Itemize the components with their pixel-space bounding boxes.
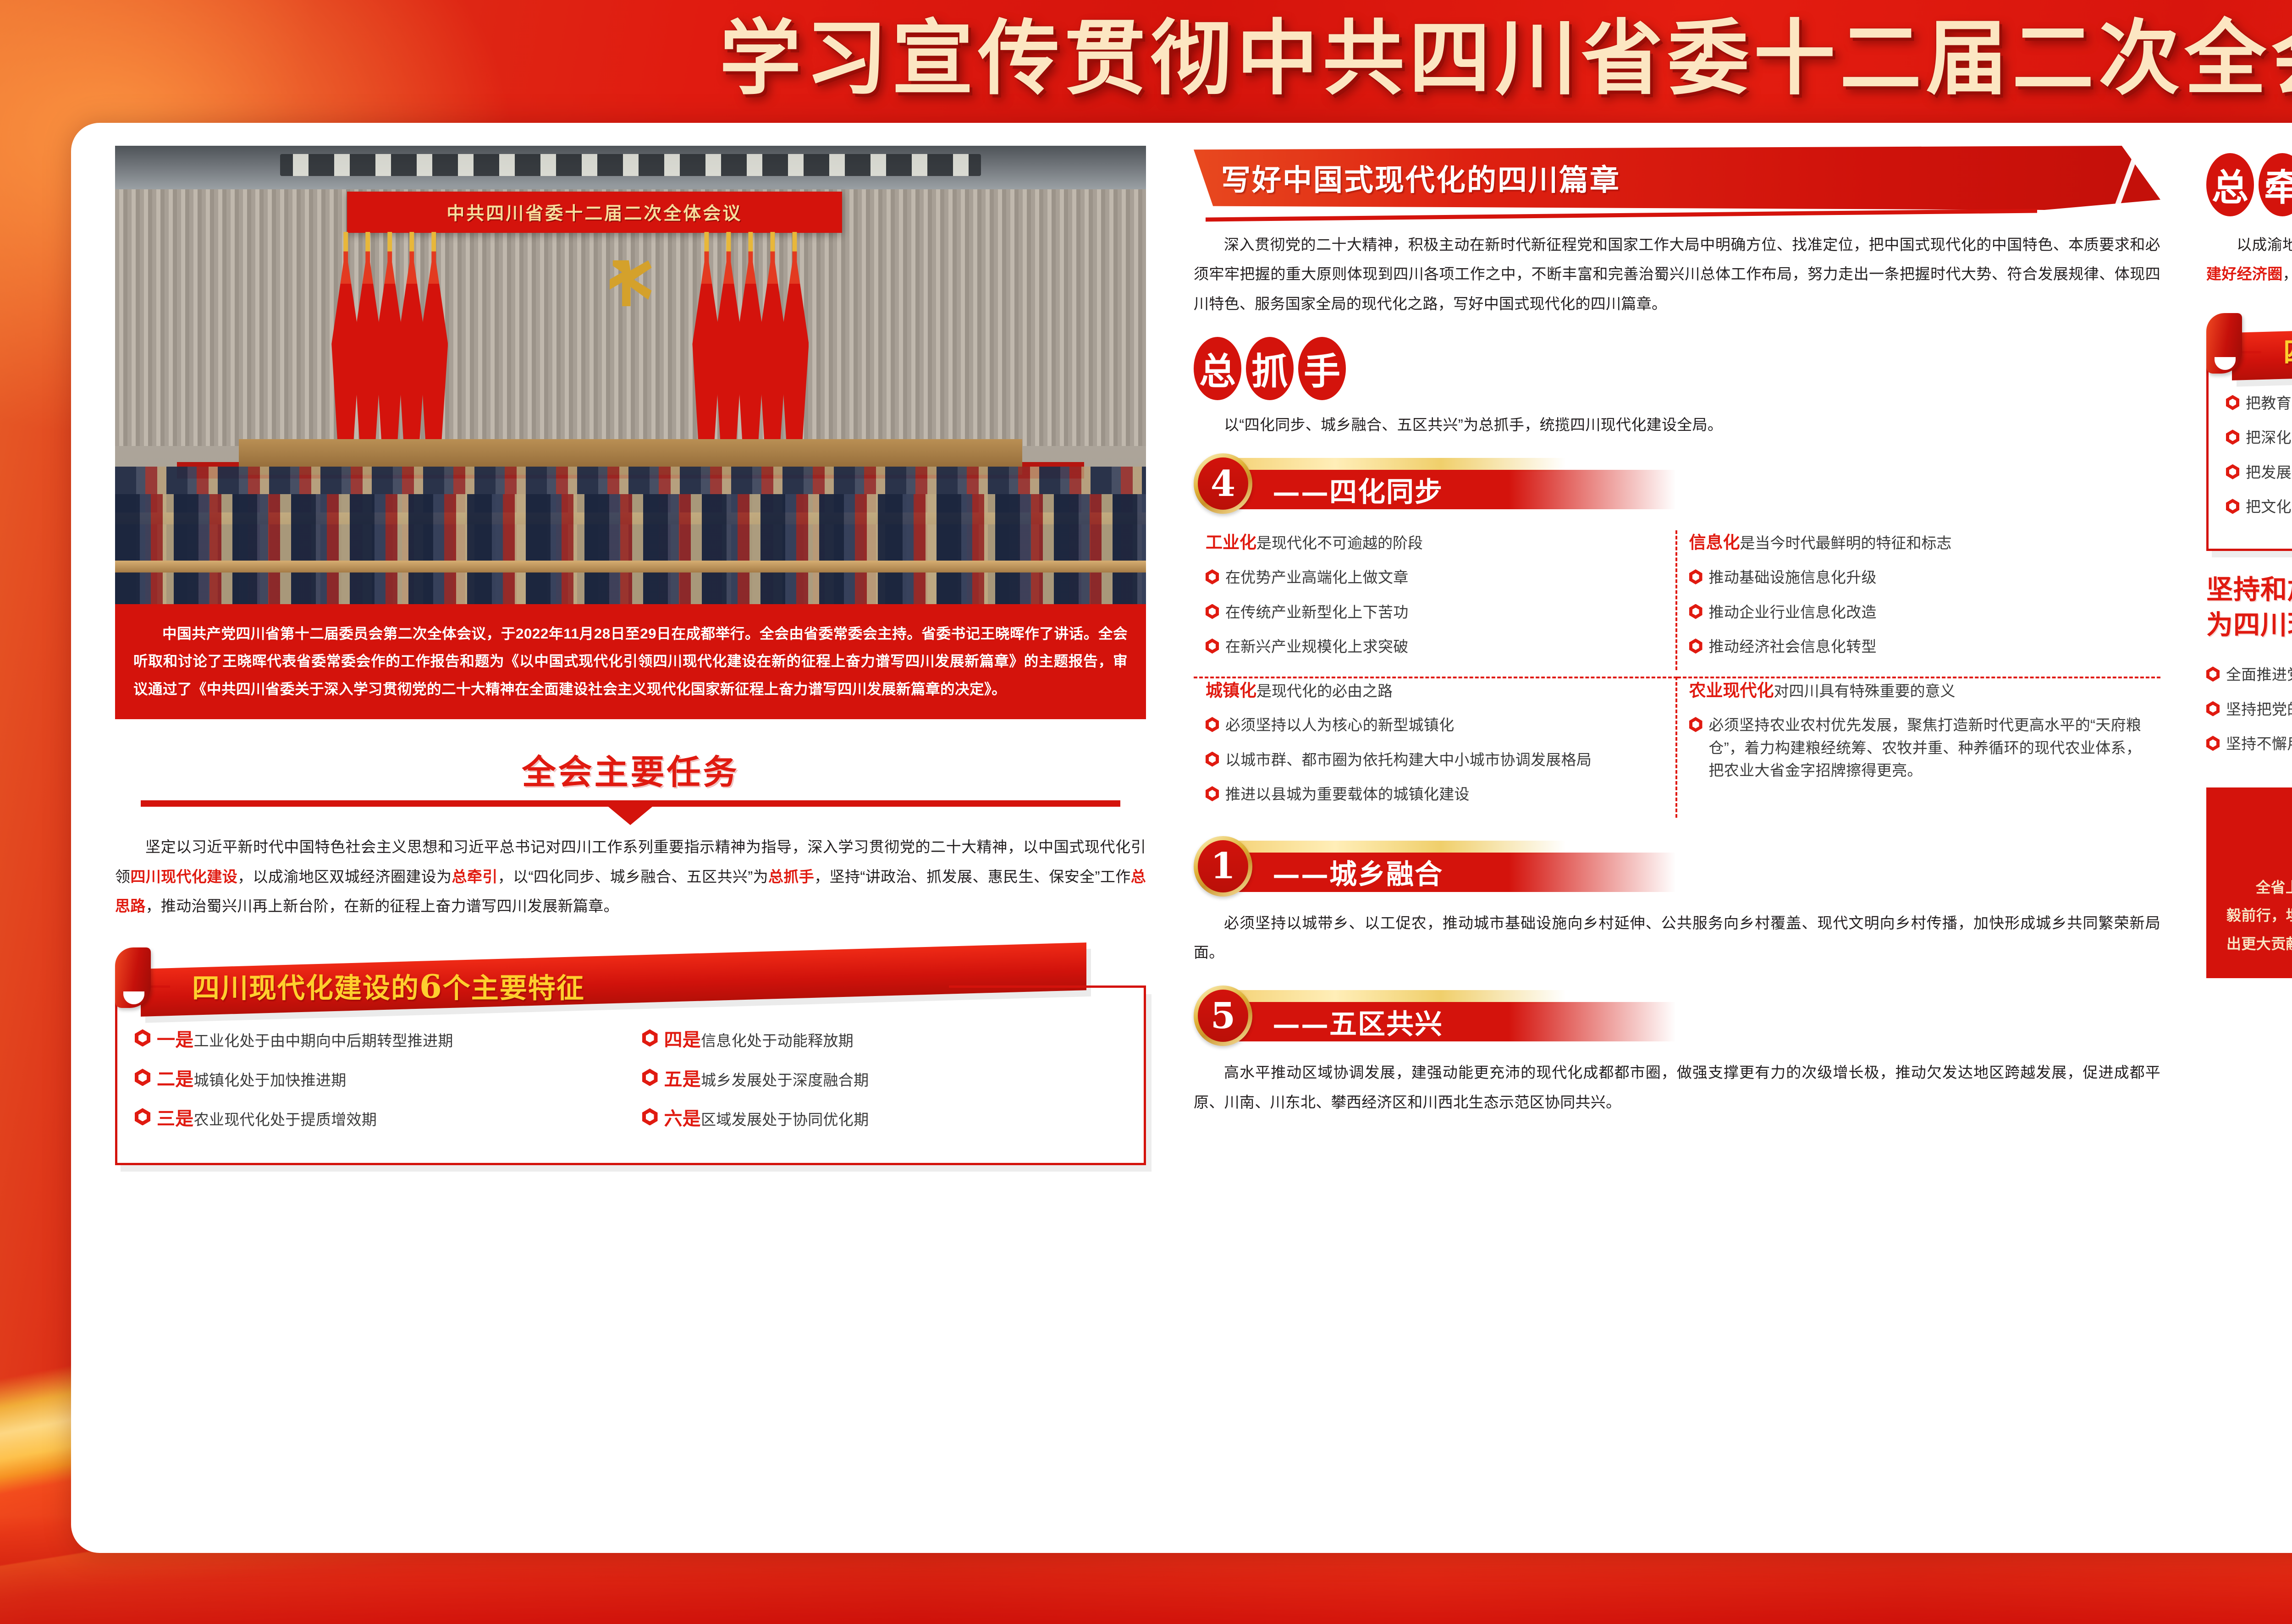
feature-ordinal: 五是 <box>664 1069 701 1090</box>
photo-caption-text: 中国共产党四川省第十二届委员会第二次全体会议，于2022年11月28日至29日在… <box>133 620 1128 703</box>
feature-text: 六是区域发展处于协同优化期 <box>664 1105 869 1133</box>
conference-photo: 中共四川省委十二届二次全体会议 <box>115 146 1146 604</box>
features-col-2: 四是信息化处于动能释放期 五是城乡发展处于深度融合期 六是区域发展处于协同优化期 <box>642 1026 1127 1145</box>
quad-key: 城镇化 <box>1206 681 1256 700</box>
photo-caption-block: 中国共产党四川省第十二届委员会第二次全体会议，于2022年11月28日至29日在… <box>115 604 1146 719</box>
quad-item: 在优势产业高端化上做文章 <box>1225 566 1409 589</box>
hexagon-bullet-icon <box>1206 639 1219 654</box>
quad-rest: 是现代化不可逾越的阶段 <box>1256 534 1423 551</box>
poster-title-area: 学习宣传贯彻中共四川省委十二届二次全会精神 <box>0 16 2292 101</box>
left-column: 中共四川省委十二届二次全体会议 中国共产党四川省第十二届委员会第二次全体会议，于… <box>91 140 1175 1539</box>
hexagon-bullet-icon <box>642 1108 658 1125</box>
hexagon-bullet-icon <box>1206 569 1219 584</box>
features-list: 一是工业化处于由中期向中后期转型推进期 二是城镇化处于加快推进期 三是农业现代化… <box>135 1026 1126 1145</box>
quad-item: 在新兴产业规模化上求突破 <box>1225 635 1409 658</box>
chengxiang-paragraph: 必须坚持以城带乡、以工促农，推动城市基础设施向乡村延伸、公共服务向乡村覆盖、现代… <box>1194 908 2160 968</box>
list-item: 在优势产业高端化上做文章 <box>1206 566 1664 589</box>
qy-p1: 以成渝地区双城经济圈建设作为四川现代化建设的总牵引， <box>2237 236 2292 253</box>
chapter-intro-paragraph: 深入贯彻党的二十大精神，积极主动在新时代新征程党和国家工作大局中明确方位、找准定… <box>1194 230 2160 319</box>
hexagon-bullet-icon <box>1206 717 1219 732</box>
list-item: 必须坚持以人为核心的新型城镇化 <box>1206 714 1664 737</box>
feature-label: 区域发展处于协同优化期 <box>701 1111 869 1128</box>
task-h2: 总牵引 <box>452 868 498 885</box>
quad-heading: 农业现代化对四川具有特殊重要的意义 <box>1689 678 2149 703</box>
quadrant-agricultural-modernization: 农业现代化对四川具有特殊重要的意义 必须坚持农业农村优先发展，聚焦打造新时代更高… <box>1677 677 2161 818</box>
list-item: 五是城乡发展处于深度融合期 <box>642 1066 1127 1093</box>
quad-key: 工业化 <box>1206 533 1256 552</box>
hexagon-bullet-icon <box>1206 786 1219 801</box>
list-item: 在传统产业新型化上下苦功 <box>1206 601 1664 624</box>
main-tasks-title-block: 全会主要任务 <box>115 745 1146 807</box>
quad-item: 推动企业行业信息化改造 <box>1709 601 1877 624</box>
party-item: 全面推进党的自我净化、自我完善、自我革新、自我提高 <box>2226 663 2292 686</box>
list-item: 推动基础设施信息化升级 <box>1689 566 2149 589</box>
party-heading-line-1: 坚持和加强党的全面领导 <box>2206 572 2292 608</box>
task-item: 把文化自信自强作为持久精神力量 <box>2246 495 2292 518</box>
scroll-curl-icon <box>2206 313 2242 374</box>
band-sihua-tongbu: 4 ——四化同步 <box>1194 453 2160 514</box>
features-col-1: 一是工业化处于由中期向中后期转型推进期 二是城镇化处于加快推进期 三是农业现代化… <box>135 1026 619 1145</box>
task-p2: ，以成渝地区双城经济圈建设为 <box>237 868 452 885</box>
list-item: 推动经济社会信息化转型 <box>1689 635 2149 658</box>
poster-title: 学习宣传贯彻中共四川省委十二届二次全会精神 <box>0 16 2292 101</box>
party-heading-line-2: 为四川现代化建设提供坚强保证 <box>2206 607 2292 643</box>
list-item: 把教育科技人才作为战略先导 <box>2226 392 2292 415</box>
quad-item: 推动基础设施信息化升级 <box>1709 566 1877 589</box>
quadrant-urbanization: 城镇化是现代化的必由之路 必须坚持以人为核心的新型城镇化 以城市群、都市圈为依托… <box>1194 677 1677 818</box>
hexagon-bullet-icon <box>135 1108 150 1125</box>
feature-ordinal: 六是 <box>664 1109 701 1129</box>
scroll-curl-icon <box>115 947 151 1008</box>
quadrant-industrialization: 工业化是现代化不可逾越的阶段 在优势产业高端化上做文章 在传统产业新型化上下苦功… <box>1194 530 1677 670</box>
wuqu-paragraph: 高水平推动区域协调发展，建强动能更充沛的现代化成都都市圈，做强支撑更有力的次级增… <box>1194 1058 2160 1117</box>
quad-item: 以城市群、都市圈为依托构建大中小城市协调发展格局 <box>1225 749 1592 771</box>
quad-heading: 工业化是现代化不可逾越的阶段 <box>1206 530 1664 555</box>
feature-label: 农业现代化处于提质增效期 <box>194 1111 377 1128</box>
photo-flags-right <box>692 232 798 447</box>
feature-text: 二是城镇化处于加快推进期 <box>157 1066 347 1093</box>
photo-ceiling <box>115 146 1146 189</box>
hexagon-bullet-icon <box>2206 701 2220 716</box>
quad-item: 在传统产业新型化上下苦功 <box>1225 601 1409 624</box>
band-label: ——城乡融合 <box>1273 852 1443 892</box>
quad-rest: 是当今时代最鲜明的特征和标志 <box>1740 534 1952 551</box>
photo-audience-rows-2 <box>115 494 1146 604</box>
hexagon-bullet-icon <box>642 1029 658 1046</box>
tasks-box: 把教育科技人才作为战略先导 把深化改革扩大开放作为根本动力 把发展全过程人民民主… <box>2206 353 2292 551</box>
band-wuqu-gongxing: 5 ——五区共兴 <box>1194 985 2160 1046</box>
list-item: 把文化自信自强作为持久精神力量 <box>2226 495 2292 518</box>
list-item: 六是区域发展处于协同优化期 <box>642 1105 1127 1133</box>
list-item: 把深化改革扩大开放作为根本动力 <box>2226 426 2292 449</box>
party-measures-list: 全面推进党的自我净化、自我完善、自我革新、自我提高 坚持把党的政治建设摆在首位 … <box>2206 663 2292 767</box>
task-p4: ，坚持“讲政治、抓发展、惠民生、保安全”工作 <box>814 868 1130 885</box>
list-item: 在新兴产业规模化上求突破 <box>1206 635 1664 658</box>
zongqianyin-paragraph: 以成渝地区双城经济圈建设作为四川现代化建设的总牵引，加强与重庆方面全方位协作，在… <box>2206 230 2292 289</box>
task-h1: 四川现代化建设 <box>130 868 237 885</box>
chapter-header-underline <box>1206 209 2037 222</box>
main-tasks-paragraph: 坚定以习近平新时代中国特色社会主义思想和习近平总书记对四川工作系列重要指示精神为… <box>115 832 1146 921</box>
list-item: 四是信息化处于动能释放期 <box>642 1026 1127 1054</box>
photo-flags-left <box>331 232 437 447</box>
feature-text: 三是农业现代化处于提质增效期 <box>157 1105 377 1133</box>
band-number-badge: 5 <box>1194 985 1252 1046</box>
party-leadership-heading: 坚持和加强党的全面领导 为四川现代化建设提供坚强保证 <box>2206 572 2292 643</box>
chapter-header: 写好中国式现代化的四川篇章 <box>1194 146 2160 210</box>
quad-item: 推进以县城为重要载体的城镇化建设 <box>1225 783 1470 806</box>
chapter-header-text: 写好中国式现代化的四川篇章 <box>1221 157 1620 199</box>
band-red-strip: ——城乡融合 <box>1236 853 1676 892</box>
band-number-badge: 4 <box>1194 453 1252 514</box>
band-number-badge: 1 <box>1194 836 1252 897</box>
list-item: 推动企业行业信息化改造 <box>1689 601 2149 624</box>
zongqianyin-badge: 总 牵 引 <box>2206 153 2292 216</box>
zongzhuashou-paragraph: 以“四化同步、城乡融合、五区共兴”为总抓手，统揽四川现代化建设全局。 <box>1194 410 2160 440</box>
list-item: 三是农业现代化处于提质增效期 <box>135 1105 619 1133</box>
task-p5: ，推动治蜀兴川再上新台阶，在新的征程上奋力谱写四川发展新篇章。 <box>146 897 619 914</box>
hexagon-bullet-icon <box>642 1068 658 1086</box>
feature-text: 五是城乡发展处于深度融合期 <box>664 1066 869 1093</box>
quad-rest: 对四川具有特殊重要的意义 <box>1774 683 1956 699</box>
features-box: 一是工业化处于由中期向中后期转型推进期 二是城镇化处于加快推进期 三是农业现代化… <box>115 988 1146 1165</box>
hexagon-bullet-icon <box>1689 639 1702 654</box>
party-item: 坚持不懈用习近平新时代中国特色社会主义思想凝心铸魂 <box>2226 732 2292 755</box>
quad-heading: 城镇化是现代化的必由之路 <box>1206 678 1664 703</box>
hexagon-bullet-icon <box>2226 429 2239 445</box>
feature-label: 工业化处于由中期向中后期转型推进期 <box>194 1032 453 1049</box>
hexagon-bullet-icon <box>1206 604 1219 619</box>
middle-column: 写好中国式现代化的四川篇章 深入贯彻党的二十大精神，积极主动在新时代新征程党和国… <box>1175 140 2186 1539</box>
feature-text: 一是工业化处于由中期向中后期转型推进期 <box>157 1026 453 1054</box>
sihua-quadrant-grid: 工业化是现代化不可逾越的阶段 在优势产业高端化上做文章 在传统产业新型化上下苦功… <box>1194 530 2160 817</box>
hexagon-bullet-icon <box>1689 604 1702 619</box>
list-item: 推进以县城为重要载体的城镇化建设 <box>1206 783 1664 806</box>
band-label: ——四化同步 <box>1273 470 1443 510</box>
quad-item: 推动经济社会信息化转型 <box>1709 635 1877 658</box>
feature-ordinal: 二是 <box>157 1069 194 1090</box>
qy-p2: ，合力打造带动全国高质量发展的重要增长极和新的动力源。 <box>2283 265 2292 282</box>
zongzhuashou-badge: 总 抓 手 <box>1194 337 2160 400</box>
task-p3: ，以“四化同步、城乡融合、五区共兴”为 <box>498 868 768 885</box>
feature-ordinal: 三是 <box>157 1109 194 1129</box>
list-item: 以城市群、都市圈为依托构建大中小城市协调发展格局 <box>1206 749 1664 771</box>
feature-label: 城乡发展处于深度融合期 <box>701 1072 869 1089</box>
right-column: 总 牵 引 以成渝地区双城经济圈建设作为四川现代化建设的总牵引，加强与重庆方面全… <box>2186 140 2292 1539</box>
title-rule-divider <box>141 800 1120 807</box>
call-to-action-card: 全会号召 全省上下要更加紧密地团结在以习近平同志为核心的党中央周围，全面贯彻落实… <box>2206 787 2292 978</box>
content-panel: 中共四川省委十二届二次全体会议 中国共产党四川省第十二届委员会第二次全体会议，于… <box>71 123 2292 1553</box>
list-item: 坚持不懈用习近平新时代中国特色社会主义思想凝心铸魂 <box>2206 732 2292 755</box>
list-item: 全面推进党的自我净化、自我完善、自我革新、自我提高 <box>2206 663 2292 686</box>
quad-key: 信息化 <box>1689 533 1740 552</box>
band-label: ——五区共兴 <box>1273 1002 1443 1042</box>
hexagon-bullet-icon <box>1689 717 1702 732</box>
oval-char: 总 <box>1194 337 1241 400</box>
quad-item: 必须坚持以人为核心的新型城镇化 <box>1225 714 1455 737</box>
photo-banner-text: 中共四川省委十二届二次全体会议 <box>446 199 742 225</box>
list-item: 二是城镇化处于加快推进期 <box>135 1066 619 1093</box>
band-red-strip: ——四化同步 <box>1236 470 1676 509</box>
hexagon-bullet-icon <box>1206 752 1219 767</box>
task-item: 把发展全过程人民民主作为重要保障 <box>2246 461 2292 484</box>
quad-item: 必须坚持农业农村优先发展，聚焦打造新时代更高水平的“天府粮仓”，着力构建粮经统筹… <box>1709 714 2149 782</box>
hexagon-bullet-icon <box>2206 736 2220 751</box>
feature-label: 信息化处于动能释放期 <box>701 1032 854 1049</box>
party-col-1: 全面推进党的自我净化、自我完善、自我革新、自我提高 坚持把党的政治建设摆在首位 … <box>2206 663 2292 767</box>
photo-banner: 中共四川省委十二届二次全体会议 <box>347 192 842 233</box>
feature-text: 四是信息化处于动能释放期 <box>664 1026 854 1054</box>
hexagon-bullet-icon <box>2226 464 2239 479</box>
quad-rest: 是现代化的必由之路 <box>1256 683 1393 699</box>
feature-label: 城镇化处于加快推进期 <box>194 1072 347 1089</box>
quad-key: 农业现代化 <box>1689 681 1774 700</box>
hexagon-bullet-icon <box>2206 666 2220 682</box>
quadrant-informatization: 信息化是当今时代最鲜明的特征和标志 推动基础设施信息化升级 推动企业行业信息化改… <box>1677 530 2161 670</box>
oval-char: 手 <box>1298 337 1346 400</box>
list-item: 必须坚持农业农村优先发展，聚焦打造新时代更高水平的“天府粮仓”，着力构建粮经统筹… <box>1689 714 2149 782</box>
hexagon-bullet-icon <box>135 1068 150 1086</box>
band-red-strip: ——五区共兴 <box>1236 1002 1676 1041</box>
hexagon-bullet-icon <box>2226 395 2239 410</box>
task-h3: 总抓手 <box>768 868 814 885</box>
hexagon-bullet-icon <box>1689 569 1702 584</box>
tasks-list: 把教育科技人才作为战略先导 把深化改革扩大开放作为根本动力 把发展全过程人民民主… <box>2226 392 2292 530</box>
tasks-col-1: 把教育科技人才作为战略先导 把深化改革扩大开放作为根本动力 把发展全过程人民民主… <box>2226 392 2292 530</box>
list-item: 把发展全过程人民民主作为重要保障 <box>2226 461 2292 484</box>
oval-char: 牵 <box>2259 153 2292 216</box>
feature-ordinal: 四是 <box>664 1030 701 1050</box>
band-chengxiang-ronghe: 1 ——城乡融合 <box>1194 836 2160 897</box>
hexagon-bullet-icon <box>2226 499 2239 514</box>
oval-char: 抓 <box>1246 337 1294 400</box>
photo-ceiling-lights <box>280 154 981 176</box>
party-item: 坚持把党的政治建设摆在首位 <box>2226 698 2292 721</box>
photo-desk-row-2 <box>115 561 1146 573</box>
task-item: 把教育科技人才作为战略先导 <box>2246 392 2292 415</box>
task-item: 把深化改革扩大开放作为根本动力 <box>2246 426 2292 449</box>
feature-ordinal: 一是 <box>157 1030 194 1050</box>
main-tasks-title: 全会主要任务 <box>522 745 739 794</box>
oval-char: 总 <box>2206 153 2254 216</box>
hexagon-bullet-icon <box>135 1029 150 1046</box>
list-item: 坚持把党的政治建设摆在首位 <box>2206 698 2292 721</box>
quad-heading: 信息化是当今时代最鲜明的特征和标志 <box>1689 530 2149 555</box>
list-item: 一是工业化处于由中期向中后期转型推进期 <box>135 1026 619 1054</box>
call-body-text: 全省上下要更加紧密地团结在以习近平同志为核心的党中央周围，全面贯彻落实党的二十大… <box>2226 874 2292 958</box>
